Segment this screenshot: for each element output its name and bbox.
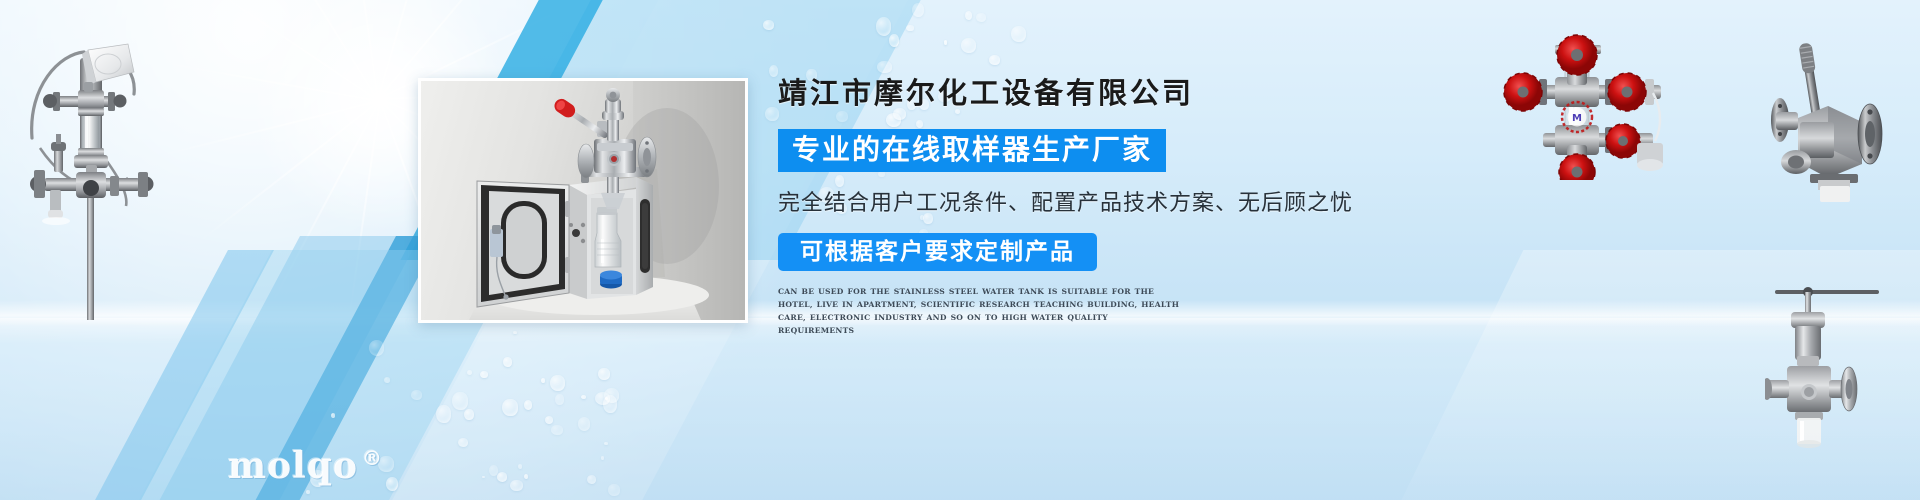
watermark-text: molqo [228,445,358,487]
custom-order-badge: 可根据客户要求定制产品 [778,233,1097,271]
left-product-image [10,20,170,320]
promo-banner: M [0,0,1920,500]
right-product-image-3 [1765,270,1920,450]
company-name: 靖江市摩尔化工设备有限公司 [778,72,1398,114]
svg-text:M: M [1572,113,1582,124]
english-description: CAN BE USED FOR THE STAINLESS STEEL WATE… [778,285,1182,337]
sub-headline: 完全结合用户工况条件、配置产品技术方案、无后顾之忧 [778,189,1398,217]
tagline-badge: 专业的在线取样器生产厂家 [778,129,1166,172]
brand-watermark: molqo® [228,448,383,484]
registered-trademark-icon: ® [362,446,383,470]
right-product-image-2 [1770,22,1920,202]
banner-copy-block: 靖江市摩尔化工设备有限公司 专业的在线取样器生产厂家 完全结合用户工况条件、配置… [778,72,1398,337]
center-product-photo [418,78,748,323]
right-product-image-1: M [1495,25,1695,180]
